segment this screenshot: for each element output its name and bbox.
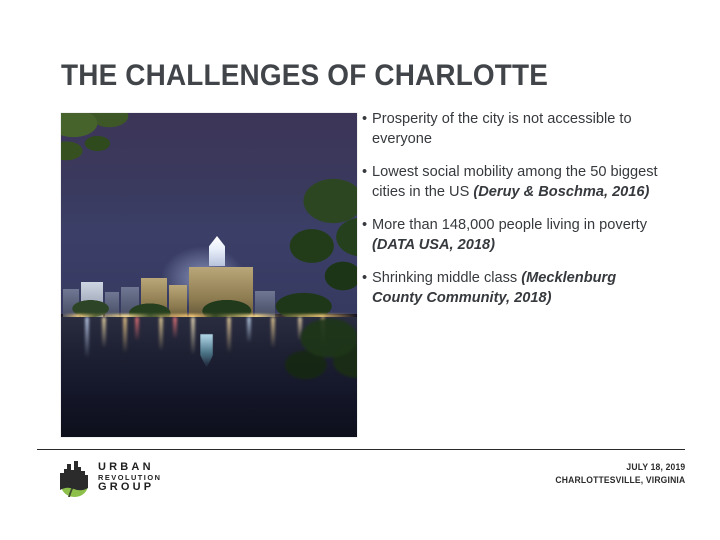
- list-item: • More than 148,000 people living in pov…: [362, 216, 662, 256]
- footer-location: CHARLOTTESVILLE, VIRGINIA: [555, 474, 685, 487]
- logo-line-urban: URBAN: [98, 462, 161, 473]
- slide: THE CHALLENGES OF CHARLOTTE: [0, 0, 720, 540]
- bullet-text: Shrinking middle class: [372, 270, 521, 286]
- photo-water-reflection: [61, 317, 357, 437]
- bullet-marker: •: [362, 110, 367, 130]
- logo-line-revolution: REVOLUTION: [98, 474, 161, 481]
- bullet-text: Prosperity of the city is not accessible…: [372, 111, 632, 147]
- photo-tree-right: [247, 159, 357, 309]
- bullet-citation: (Deruy & Boschma, 2016): [473, 184, 649, 200]
- footer-meta: JULY 18, 2019 CHARLOTTESVILLE, VIRGINIA: [555, 461, 685, 488]
- page-title: THE CHALLENGES OF CHARLOTTE: [61, 60, 619, 92]
- bullet-marker: •: [362, 269, 367, 289]
- bullet-text: More than 148,000 people living in pover…: [372, 217, 647, 233]
- bullet-marker: •: [362, 163, 367, 183]
- logo-mark-icon: [54, 460, 94, 498]
- list-item: • Prosperity of the city is not accessib…: [362, 110, 662, 150]
- photo-tree-left: [61, 113, 167, 195]
- bullet-marker: •: [362, 216, 367, 236]
- bullet-list: • Prosperity of the city is not accessib…: [362, 110, 662, 309]
- bullet-citation: (DATA USA, 2018): [372, 237, 495, 253]
- logo-line-group: GROUP: [98, 482, 161, 493]
- footer-divider: [37, 449, 685, 450]
- footer-date: JULY 18, 2019: [555, 461, 685, 474]
- charlotte-skyline-photo: [61, 113, 357, 437]
- logo-wordmark: URBAN REVOLUTION GROUP: [98, 462, 161, 493]
- list-item: • Lowest social mobility among the 50 bi…: [362, 163, 662, 203]
- list-item: • Shrinking middle class (Mecklenburg Co…: [362, 269, 662, 309]
- urban-revolution-group-logo: URBAN REVOLUTION GROUP: [54, 459, 154, 499]
